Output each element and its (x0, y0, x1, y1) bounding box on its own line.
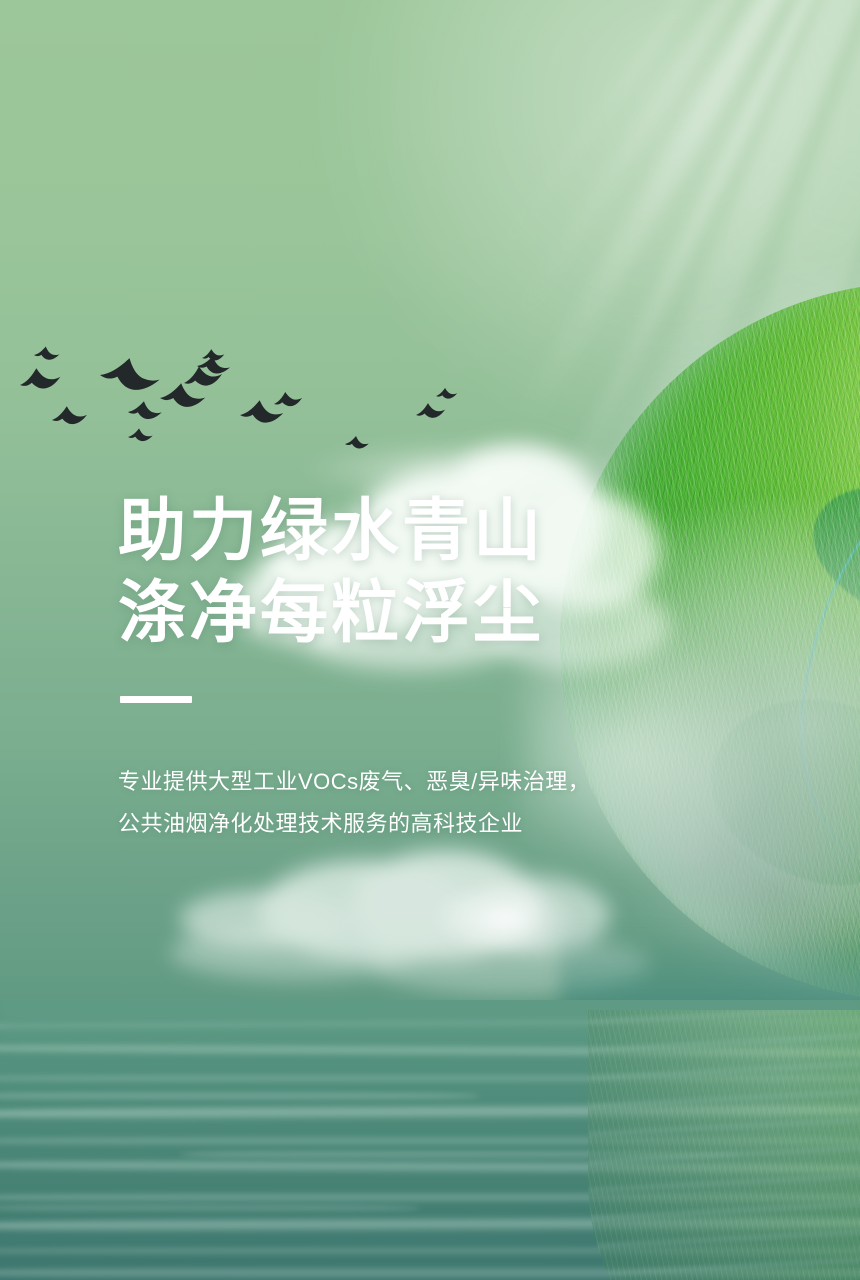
headline-line-1: 助力绿水青山 (118, 490, 678, 572)
water-surface (0, 1000, 860, 1280)
globe-reflection (588, 1010, 860, 1280)
small-cloud (430, 880, 580, 950)
light-ray (478, 0, 709, 280)
water-ripple (0, 1158, 860, 1176)
hero-poster: 助力绿水青山 涤净每粒浮尘 专业提供大型工业VOCs废气、恶臭/异味治理， 公共… (0, 0, 860, 1280)
water-ripple (0, 1074, 860, 1083)
water-ripple (0, 1266, 860, 1280)
hero-text-block: 助力绿水青山 涤净每粒浮尘 专业提供大型工业VOCs废气、恶臭/异味治理， 公共… (118, 490, 678, 845)
water-ripple (0, 1246, 860, 1256)
headline-divider (120, 696, 192, 703)
headline-line-2: 涤净每粒浮尘 (118, 572, 678, 654)
water-base (0, 1000, 860, 1280)
water-ripple (0, 1015, 860, 1032)
water-ripple (0, 1102, 860, 1122)
subtitle-line-2: 公共油烟净化处理技术服务的高科技企业 (118, 803, 678, 845)
subtitle-line-1: 专业提供大型工业VOCs废气、恶臭/异味治理， (118, 761, 678, 803)
water-ripple (0, 1092, 480, 1100)
water-ripple (0, 1136, 860, 1146)
water-ripple (0, 1214, 860, 1234)
light-ray (506, 0, 759, 333)
water-ripple (0, 1041, 860, 1059)
subtitle: 专业提供大型工业VOCs废气、恶臭/异味治理， 公共油烟净化处理技术服务的高科技… (118, 761, 678, 845)
water-ripple (0, 1204, 420, 1212)
water-ripple (0, 1192, 860, 1203)
water-ripple (180, 1150, 740, 1159)
